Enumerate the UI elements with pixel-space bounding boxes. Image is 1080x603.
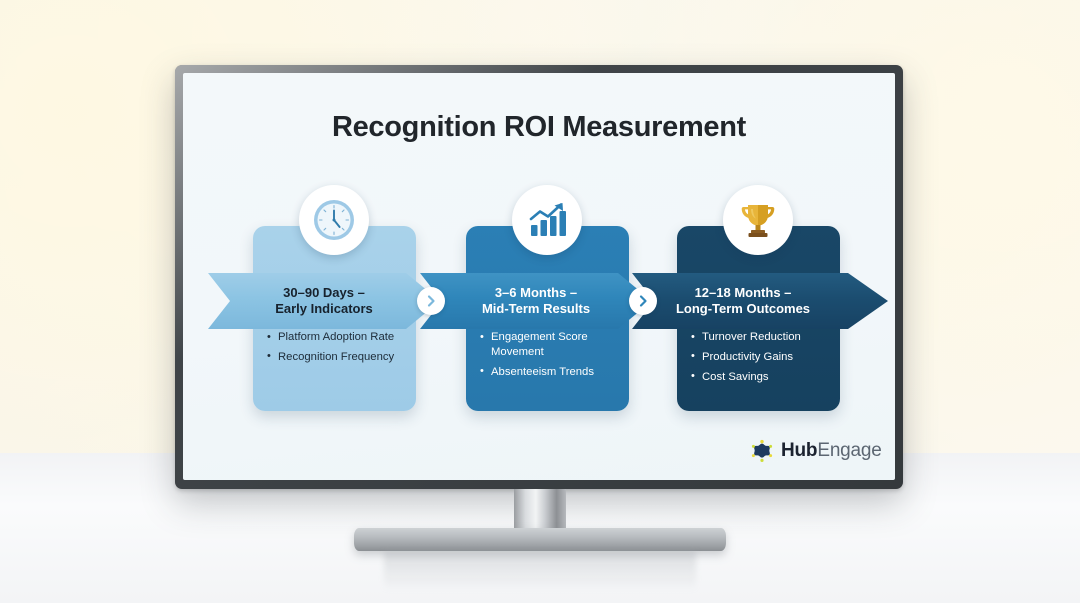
page-title: Recognition ROI Measurement	[183, 111, 895, 144]
chevron-badge-2	[629, 287, 657, 315]
hubengage-star-icon	[750, 439, 774, 463]
banner-segment-1: 30–90 Days – Early Indicators	[208, 269, 440, 333]
trophy-icon	[736, 198, 780, 242]
monitor-frame: Recognition ROI Measurement Platform Ado…	[175, 65, 903, 489]
list-item: Productivity Gains	[691, 350, 830, 365]
clock-icon	[311, 197, 357, 243]
list-item: Absenteeism Trends	[480, 365, 619, 380]
brand-logo-text: HubEngage	[781, 440, 882, 462]
scene: Recognition ROI Measurement Platform Ado…	[0, 0, 1080, 603]
stage-1-heading: 30–90 Days – Early Indicators	[208, 269, 440, 333]
stage-2-bullet-list: Engagement Score Movement Absenteeism Tr…	[480, 330, 619, 385]
list-item: Engagement Score Movement	[480, 330, 619, 360]
chevron-badge-1	[417, 287, 445, 315]
stage-3-bullet-list: Turnover Reduction Productivity Gains Co…	[691, 330, 830, 390]
presentation-slide: Recognition ROI Measurement Platform Ado…	[183, 73, 895, 480]
stage-2-icon-badge	[512, 185, 582, 255]
stage-3-icon-badge	[723, 185, 793, 255]
stage-1-bullet-list: Platform Adoption Rate Recognition Frequ…	[267, 330, 406, 370]
stage-3-heading: 12–18 Months – Long-Term Outcomes	[632, 269, 888, 333]
list-item: Cost Savings	[691, 370, 830, 385]
logo-text-light: Engage	[817, 440, 881, 461]
stage-1-icon-badge	[299, 185, 369, 255]
brand-logo: HubEngage	[750, 439, 882, 463]
timeline-arrow-banner: 30–90 Days – Early Indicators	[183, 269, 895, 333]
banner-segment-3: 12–18 Months – Long-Term Outcomes	[632, 269, 888, 333]
monitor-stand-base	[354, 528, 726, 551]
chevron-right-icon	[636, 294, 650, 308]
growth-chart-icon	[526, 199, 568, 241]
logo-text-bold: Hub	[781, 440, 817, 461]
list-item: Recognition Frequency	[267, 350, 406, 365]
stage-2-heading: 3–6 Months – Mid-Term Results	[420, 269, 652, 333]
banner-segment-2: 3–6 Months – Mid-Term Results	[420, 269, 652, 333]
monitor-screen: Recognition ROI Measurement Platform Ado…	[183, 73, 895, 480]
chevron-right-icon	[424, 294, 438, 308]
